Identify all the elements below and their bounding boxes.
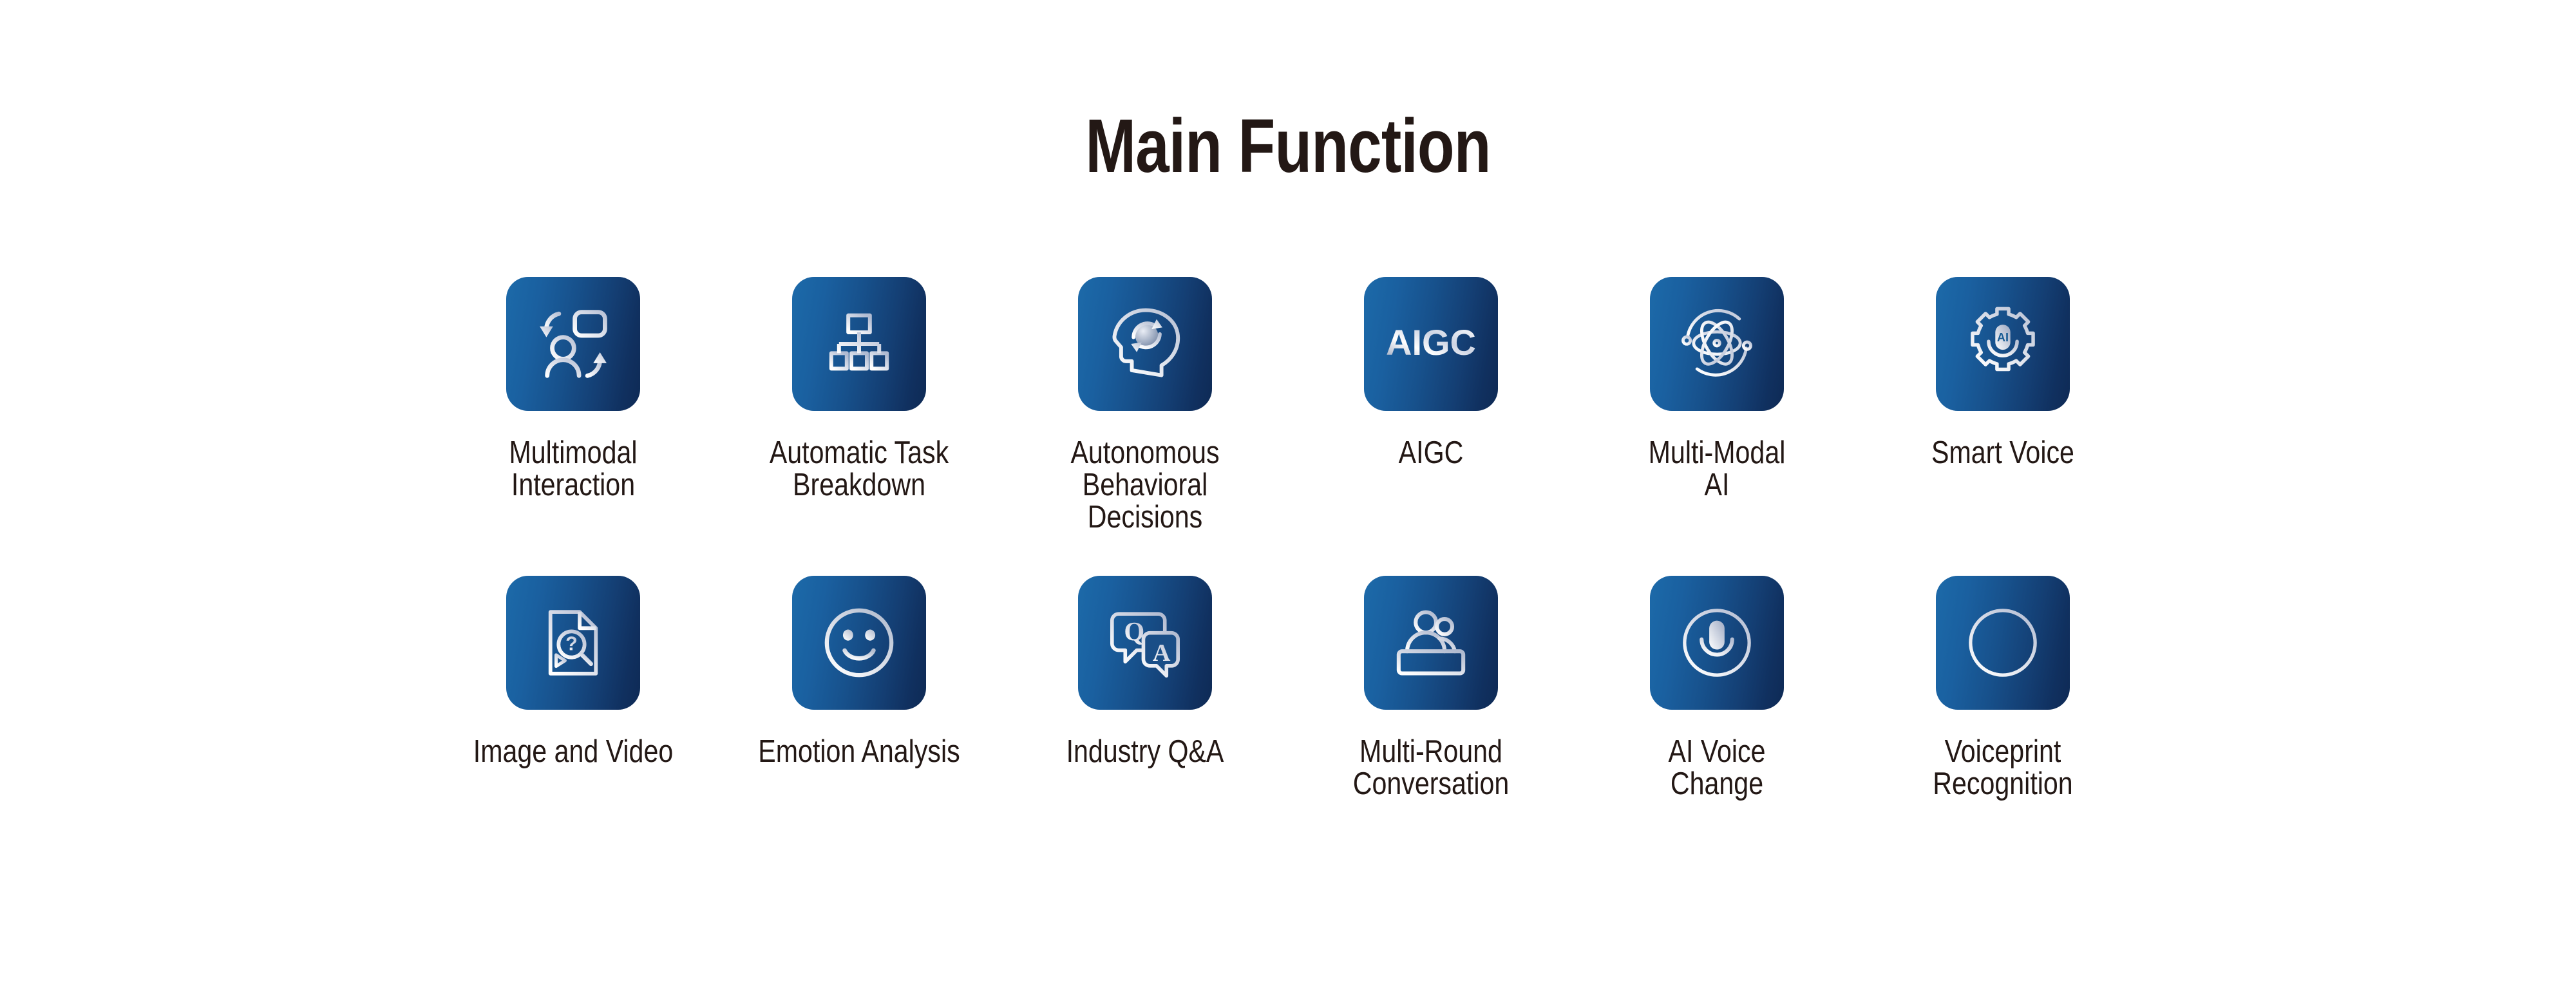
feature-label: Emotion Analysis xyxy=(719,736,1000,768)
automatic-task-breakdown-tile[interactable] xyxy=(792,277,926,411)
feature-item-multimodal-interaction[interactable]: Multimodal Interaction xyxy=(430,277,716,501)
feature-grid: Multimodal Interaction xyxy=(0,277,2576,800)
feature-row-1: Multimodal Interaction xyxy=(0,277,2576,533)
ai-voice-change-tile[interactable] xyxy=(1650,576,1784,710)
feature-item-automatic-task-breakdown[interactable]: Automatic Task Breakdown xyxy=(716,277,1002,501)
image-and-video-tile[interactable]: ? xyxy=(506,576,640,710)
feature-label: Autonomous Behavioral Decisions xyxy=(1005,437,1286,533)
feature-item-autonomous-behavioral-decisions[interactable]: Autonomous Behavioral Decisions xyxy=(1002,277,1288,533)
a-glyph: A xyxy=(1153,640,1171,667)
feature-label: Automatic Task Breakdown xyxy=(719,437,1000,501)
feature-item-image-and-video[interactable]: ? Image and Video xyxy=(430,576,716,768)
task-hierarchy-icon xyxy=(820,305,898,383)
feature-label: Multi-Modal AI xyxy=(1577,437,1858,501)
gear-microphone-ai-icon: AI xyxy=(1961,302,2045,386)
aigc-label: AIGC xyxy=(1386,322,1476,363)
emotion-analysis-tile[interactable] xyxy=(792,576,926,710)
feature-label: Image and Video xyxy=(433,736,714,768)
feature-label: AIGC xyxy=(1291,437,1572,469)
feature-item-multi-round-conversation[interactable]: Multi-Round Conversation xyxy=(1288,576,1574,800)
main-function-page: Main Function xyxy=(0,0,2576,1006)
industry-qa-tile[interactable]: Q A xyxy=(1078,576,1212,710)
multi-modal-ai-tile[interactable] xyxy=(1650,277,1784,411)
waveform-circle-icon xyxy=(1960,600,2045,685)
feature-label: AI Voice Change xyxy=(1577,736,1858,800)
feature-label: Voiceprint Recognition xyxy=(1862,736,2144,800)
page-title: Main Function xyxy=(258,108,2318,184)
smiley-face-icon xyxy=(817,600,902,685)
head-cycle-icon xyxy=(1104,303,1186,385)
feature-item-industry-qa[interactable]: Q A Industry Q&A xyxy=(1002,576,1288,768)
feature-item-smart-voice[interactable]: AI Smart Voice xyxy=(1860,277,2146,469)
question-mark-glyph: ? xyxy=(565,633,577,654)
ai-label: AI xyxy=(1997,331,2009,344)
aigc-tile[interactable]: AIGC xyxy=(1364,277,1498,411)
q-glyph: Q xyxy=(1124,616,1144,646)
autonomous-behavioral-decisions-tile[interactable] xyxy=(1078,277,1212,411)
aigc-text-icon: AIGC xyxy=(1383,318,1479,370)
microphone-circle-icon xyxy=(1674,600,1759,685)
atom-orbit-icon xyxy=(1674,301,1760,387)
feature-item-emotion-analysis[interactable]: Emotion Analysis xyxy=(716,576,1002,768)
multimodal-interaction-icon xyxy=(531,302,615,386)
feature-item-multi-modal-ai[interactable]: Multi-Modal AI xyxy=(1574,277,1860,501)
feature-item-voiceprint-recognition[interactable]: Voiceprint Recognition xyxy=(1860,576,2146,800)
feature-item-aigc[interactable]: AIGC AIGC xyxy=(1288,277,1574,469)
document-search-play-icon: ? xyxy=(533,602,614,683)
qa-speech-bubbles-icon: Q A xyxy=(1104,602,1186,684)
feature-label: Multi-Round Conversation xyxy=(1291,736,1572,800)
feature-label: Industry Q&A xyxy=(1005,736,1286,768)
multi-round-conversation-tile[interactable] xyxy=(1364,576,1498,710)
multimodal-interaction-tile[interactable] xyxy=(506,277,640,411)
feature-label: Multimodal Interaction xyxy=(433,437,714,501)
smart-voice-tile[interactable]: AI xyxy=(1936,277,2070,411)
feature-item-ai-voice-change[interactable]: AI Voice Change xyxy=(1574,576,1860,800)
people-panel-icon xyxy=(1388,600,1473,685)
feature-label: Smart Voice xyxy=(1862,437,2144,469)
feature-row-2: ? Image and Video xyxy=(0,576,2576,800)
voiceprint-recognition-tile[interactable] xyxy=(1936,576,2070,710)
